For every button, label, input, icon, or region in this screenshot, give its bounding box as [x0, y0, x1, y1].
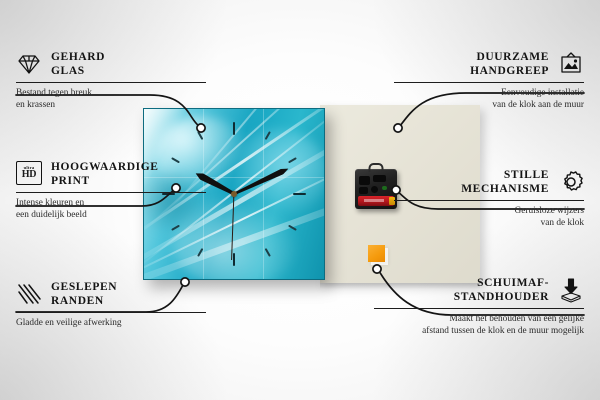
- mechanism-detail: [359, 176, 370, 185]
- hd-badge-bottom: HD: [22, 170, 37, 180]
- diagonal-lines-icon: [16, 281, 42, 307]
- feature-title: DUURZAME HANDGREEP: [470, 50, 549, 78]
- feature-title: GESLEPEN RANDEN: [51, 280, 117, 308]
- feature-divider: [394, 200, 584, 201]
- feature-gehard-glas[interactable]: GEHARD GLAS Bestand tegen breuk en krass…: [16, 50, 206, 112]
- feature-description: Intense kleuren en een duidelijk beeld: [16, 197, 206, 222]
- mechanism-detail: [359, 187, 368, 194]
- feature-description: Gladde en veilige afwerking: [16, 317, 206, 329]
- feature-title: GEHARD GLAS: [51, 50, 105, 78]
- feature-divider: [16, 192, 206, 193]
- mechanism-detail: [373, 175, 386, 182]
- feature-title: STILLE MECHANISME: [461, 168, 549, 196]
- mechanism-shaft: [371, 186, 378, 193]
- gear-icon: [558, 169, 584, 195]
- feature-divider: [16, 312, 206, 313]
- battery: [358, 196, 394, 206]
- feature-description: Eenvoudige installatie van de klok aan d…: [394, 87, 584, 112]
- feature-duurzame-handgreep[interactable]: DUURZAME HANDGREEP Eenvoudige installati…: [394, 50, 584, 112]
- feature-geslepen-randen[interactable]: GESLEPEN RANDEN Gladde en veilige afwerk…: [16, 280, 206, 329]
- feature-title: SCHUIMAF- STANDHOUDER: [454, 276, 549, 304]
- arrow-down-platform-icon: [558, 277, 584, 303]
- feature-description: Maakt het behouden van een gelijke afsta…: [374, 313, 584, 338]
- foam-spacer-pad: [368, 245, 385, 262]
- feature-description: Geruisloze wijzers van de klok: [394, 205, 584, 230]
- mechanism-hanging-hook: [369, 163, 384, 172]
- feature-hoogwaardige-print[interactable]: ultra HD HOOGWAARDIGE PRINT Intense kleu…: [16, 160, 206, 222]
- feature-divider: [374, 308, 584, 309]
- feature-divider: [16, 82, 206, 83]
- clock-center-pin: [231, 191, 237, 197]
- feature-description: Bestand tegen breuk en krassen: [16, 87, 206, 112]
- diamond-icon: [16, 51, 42, 77]
- feature-stille-mechanisme[interactable]: STILLE MECHANISME Geruisloze wijzers van…: [394, 168, 584, 230]
- feature-divider: [394, 82, 584, 83]
- feature-schuimaf-standhouder[interactable]: SCHUIMAF- STANDHOUDER Maakt het behouden…: [374, 276, 584, 338]
- feature-title: HOOGWAARDIGE PRINT: [51, 160, 159, 188]
- ultra-hd-icon: ultra HD: [16, 161, 42, 187]
- clock-mechanism: [355, 169, 397, 209]
- mechanism-detail: [382, 186, 387, 190]
- hanging-picture-icon: [558, 51, 584, 77]
